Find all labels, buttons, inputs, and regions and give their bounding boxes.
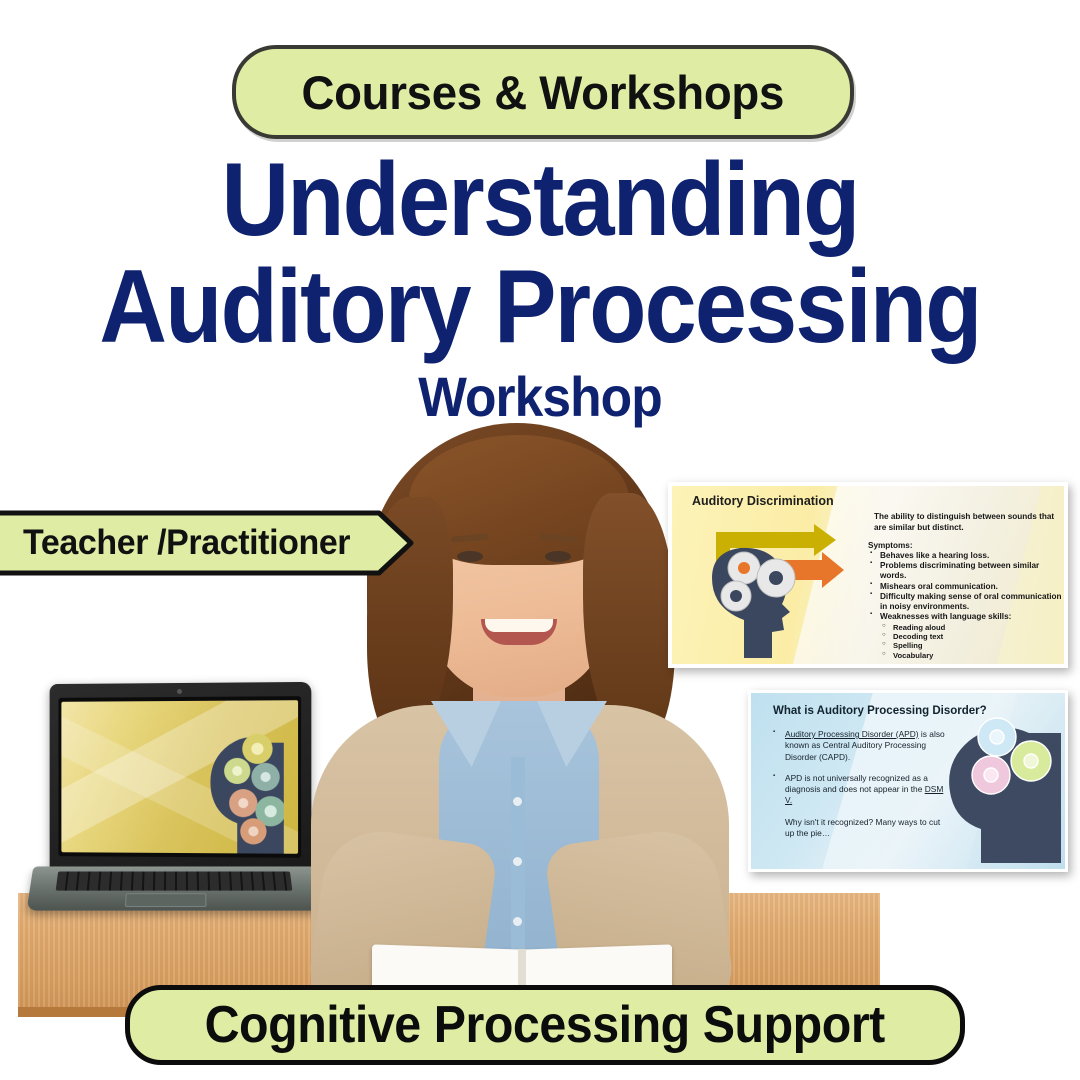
list-item: Problems discriminating between similar …: [868, 561, 1064, 581]
slide-2-text-block: Auditory Processing Disorder (APD) is al…: [771, 729, 947, 849]
teeth: [485, 619, 553, 632]
laptop-screen: [61, 700, 298, 854]
list-item: Reading aloud: [882, 623, 1064, 632]
list-item: Behaves like a hearing loss.: [868, 551, 1064, 561]
laptop-keyboard-base: [26, 866, 325, 910]
slide-1-lead: The ability to distinguish between sound…: [874, 512, 1064, 533]
slide-2-bullet-1: Auditory Processing Disorder (APD) is al…: [771, 729, 947, 763]
cognitive-processing-support-banner[interactable]: Cognitive Processing Support: [125, 985, 965, 1065]
list-item: Difficulty making sense of oral communic…: [868, 592, 1064, 612]
apd-dsm-pre: APD is not universally recognized as a d…: [785, 773, 928, 794]
cognitive-processing-support-label: Cognitive Processing Support: [205, 995, 885, 1055]
title-line-2: Auditory Processing: [54, 257, 1026, 358]
slide-card-auditory-discrimination[interactable]: Auditory Discrimination The ability to d…: [668, 482, 1068, 668]
courses-workshops-badge[interactable]: Courses & Workshops: [232, 45, 854, 139]
slide-card-apd[interactable]: What is Auditory Processing Disorder? Au…: [748, 690, 1068, 872]
list-item: Vocabulary: [882, 651, 1064, 660]
eye-left: [457, 551, 483, 562]
slide-1-symptoms-label: Symptoms:: [868, 541, 1064, 550]
slide-2-closing: Why isn't it recognized? Many ways to cu…: [771, 817, 947, 840]
eye-right: [545, 551, 571, 562]
head-arrows-gears-icon: [686, 512, 866, 662]
page-title: Understanding Auditory Processing Worksh…: [0, 150, 1080, 429]
laptop-keys: [56, 872, 293, 891]
shirt-button: [513, 857, 522, 866]
head-with-gears-icon: [935, 709, 1061, 865]
slide-1-symptoms-list: Behaves like a hearing loss. Problems di…: [868, 551, 1064, 622]
slide-1-title: Auditory Discrimination: [692, 494, 834, 508]
laptop-lid: [50, 682, 312, 874]
shirt-button: [513, 797, 522, 806]
title-subtitle: Workshop: [43, 364, 1037, 429]
audience-ribbon-label: Teacher /Practitioner: [23, 510, 350, 576]
laptop: [30, 683, 322, 915]
list-item: Weaknesses with language skills:: [868, 612, 1064, 622]
shirt-button: [513, 917, 522, 926]
slide-1-language-skills-list: Reading aloud Decoding text Spelling Voc…: [868, 623, 1064, 660]
poster-canvas: Auditory Discrimination The ability to d…: [0, 0, 1080, 1080]
apd-term: Auditory Processing Disorder (APD): [785, 729, 919, 739]
slide-1-canvas: Auditory Discrimination The ability to d…: [672, 486, 1064, 664]
slide-2-canvas: What is Auditory Processing Disorder? Au…: [751, 693, 1065, 869]
webcam-icon: [177, 689, 182, 694]
slide-1-text-block: The ability to distinguish between sound…: [868, 512, 1064, 660]
head-with-gears-icon: [171, 718, 284, 853]
list-item: Spelling: [882, 641, 1064, 650]
audience-ribbon[interactable]: Teacher /Practitioner: [0, 510, 414, 576]
laptop-trackpad: [125, 893, 207, 907]
title-line-1: Understanding: [54, 150, 1026, 251]
slide-2-bullet-2: APD is not universally recognized as a d…: [771, 773, 947, 807]
courses-workshops-badge-label: Courses & Workshops: [302, 65, 785, 120]
list-item: Decoding text: [882, 632, 1064, 641]
list-item: Mishears oral communication.: [868, 582, 1064, 592]
